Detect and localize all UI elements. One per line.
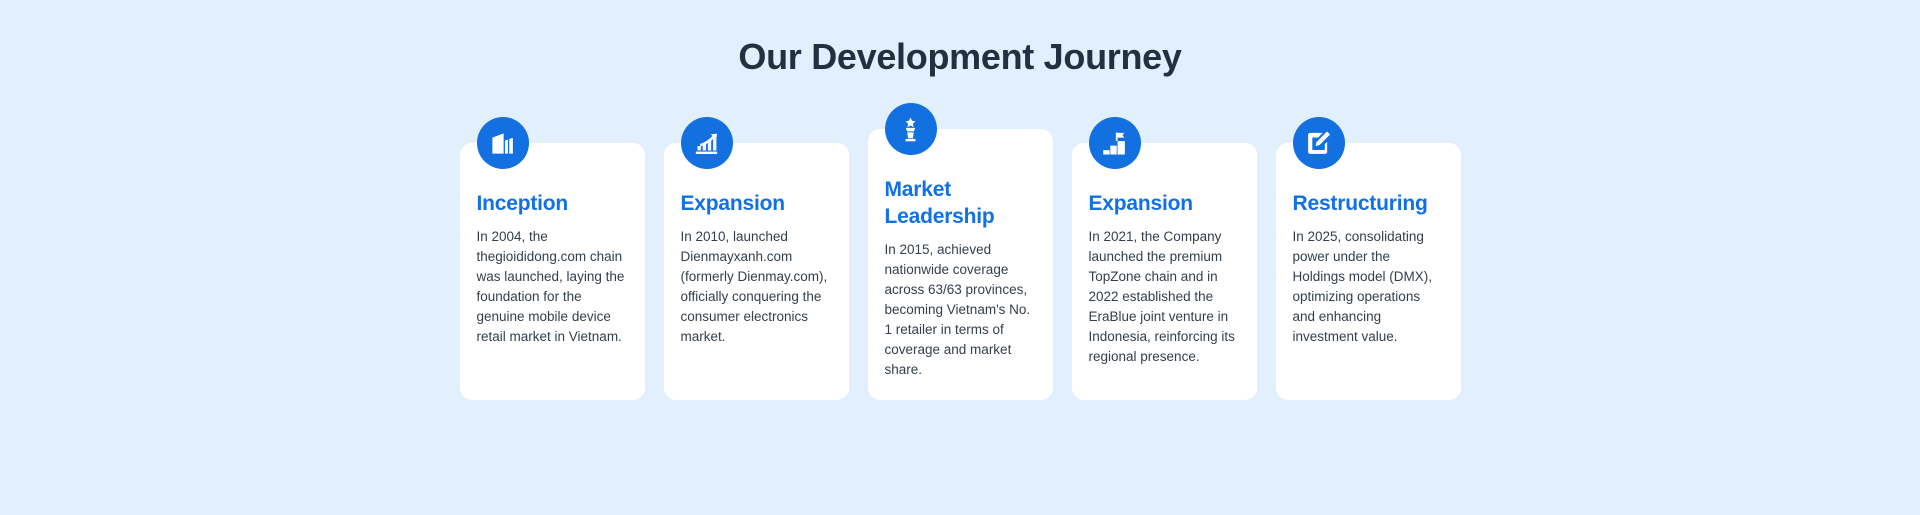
card-body-text: In 2021, the Company launched the premiu… [1089,227,1240,367]
card-heading: Inception [477,191,628,218]
card-heading: Expansion [1089,191,1240,218]
edit-pencil-square-icon [1293,117,1345,169]
card-body-text: In 2010, launched Dienmayxanh.com (forme… [681,227,832,347]
card-body-text: In 2004, the thegioididong.com chain was… [477,227,628,347]
timeline-card[interactable]: Restructuring In 2025, consolidating pow… [1276,143,1461,400]
trophy-star-icon [885,103,937,155]
timeline-card[interactable]: Expansion In 2021, the Company launched … [1072,143,1257,400]
office-building-icon [477,117,529,169]
page-title: Our Development Journey [0,36,1920,78]
card-heading: Restructuring [1293,191,1444,218]
growth-chart-arrow-icon [681,117,733,169]
timeline-card[interactable]: Expansion In 2010, launched Dienmayxanh.… [664,143,849,400]
card-body-text: In 2025, consolidating power under the H… [1293,227,1444,347]
timeline-card[interactable]: Market Leadership In 2015, achieved nati… [868,129,1053,400]
timeline-card[interactable]: Inception In 2004, the thegioididong.com… [460,143,645,400]
timeline-card-list: Inception In 2004, the thegioididong.com… [0,100,1920,400]
card-heading: Expansion [681,191,832,218]
card-heading: Market Leadership [885,177,1036,231]
stairs-flag-icon [1089,117,1141,169]
development-journey-section: Our Development Journey Inception In 200… [0,0,1920,515]
card-body-text: In 2015, achieved nationwide coverage ac… [885,240,1036,380]
